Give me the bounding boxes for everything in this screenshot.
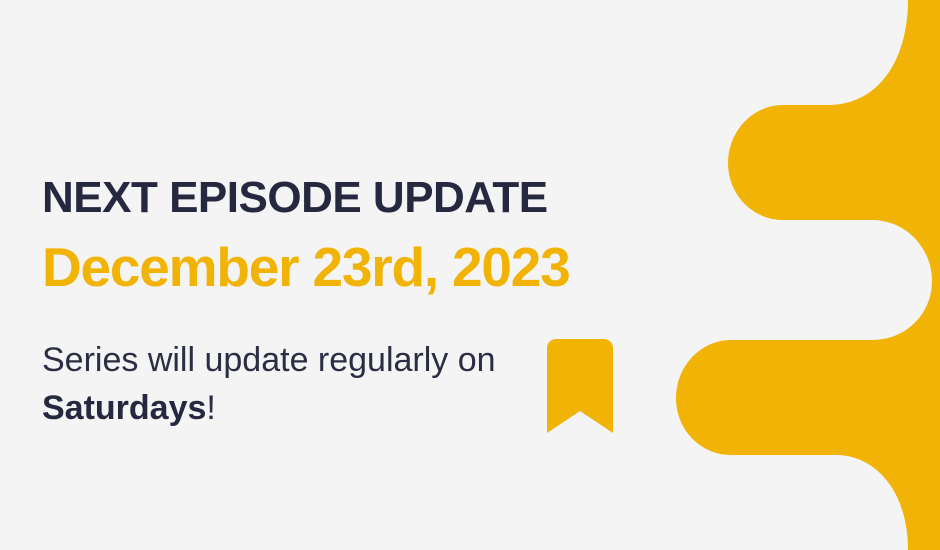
- bookmark-icon: [547, 339, 613, 433]
- banner-date: December 23rd, 2023: [42, 240, 570, 295]
- wave-shape-decoration-main: [640, 0, 940, 550]
- banner-content: NEXT EPISODE UPDATE December 23rd, 2023 …: [42, 0, 682, 550]
- subtitle-lead-text: Series will update regularly on: [42, 341, 496, 379]
- banner-subtitle: Series will update regularly on Saturday…: [42, 336, 512, 433]
- subtitle-trail-text: !: [206, 389, 215, 427]
- next-episode-update-banner: NEXT EPISODE UPDATE December 23rd, 2023 …: [0, 0, 940, 550]
- subtitle-emphasis-text: Saturdays: [42, 389, 206, 427]
- banner-heading: NEXT EPISODE UPDATE: [42, 176, 548, 220]
